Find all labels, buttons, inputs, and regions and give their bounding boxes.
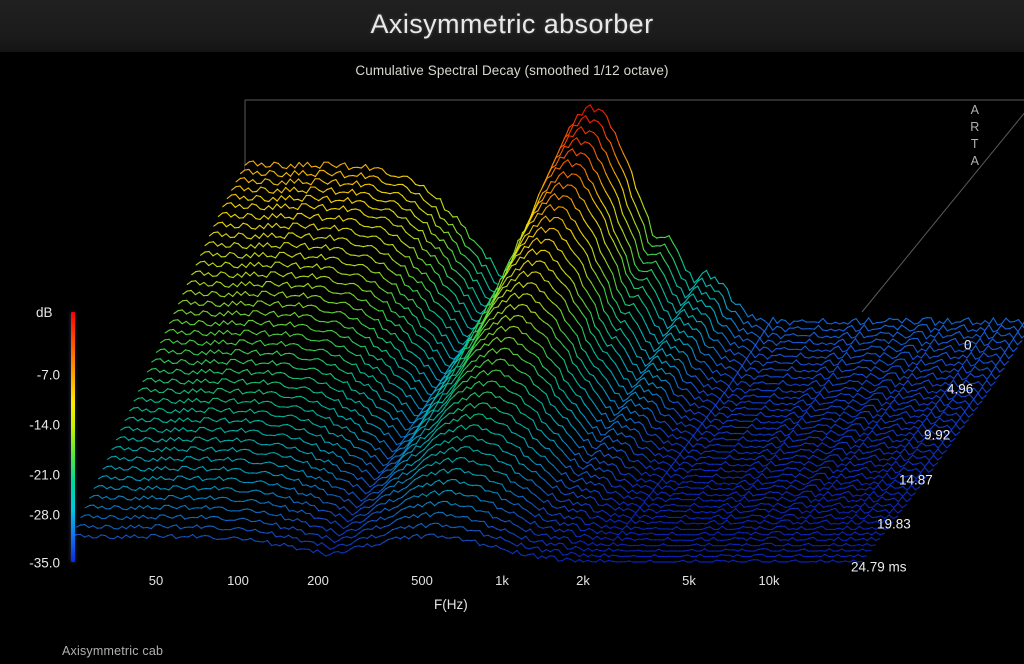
plot-area: Cumulative Spectral Decay (smoothed 1/12… [0, 52, 1024, 664]
freq-tick-1k: 1k [495, 573, 509, 588]
db-colorbar [71, 312, 75, 562]
time-tick-3: 14.87 [899, 473, 933, 488]
time-tick-0: 0 [964, 338, 972, 353]
time-tick-2: 9.92 [924, 428, 950, 443]
freq-tick-10k: 10k [759, 573, 780, 588]
arta-watermark: ARTA [963, 102, 987, 170]
measurement-caption: Axisymmetric cab [62, 644, 163, 658]
time-tick-4: 19.83 [877, 517, 911, 532]
freq-tick-200: 200 [307, 573, 329, 588]
db-tick-3: -21.0 [0, 468, 60, 483]
db-tick-2: -14.0 [0, 418, 60, 433]
db-axis-label: dB [36, 305, 53, 320]
db-tick-1: -7.0 [0, 368, 60, 383]
freq-tick-5k: 5k [682, 573, 696, 588]
freq-tick-2k: 2k [576, 573, 590, 588]
freq-tick-50: 50 [149, 573, 163, 588]
freq-axis-label: F(Hz) [434, 597, 468, 612]
time-tick-1: 4.96 [947, 382, 973, 397]
page-title: Axisymmetric absorber [0, 9, 1024, 40]
freq-tick-500: 500 [411, 573, 433, 588]
time-tick-5: 24.79 ms [851, 560, 907, 575]
freq-tick-100: 100 [227, 573, 249, 588]
db-tick-5: -35.0 [0, 556, 60, 571]
cumulative-spectral-decay-window: Axisymmetric absorber Cumulative Spectra… [0, 0, 1024, 664]
db-tick-4: -28.0 [0, 508, 60, 523]
